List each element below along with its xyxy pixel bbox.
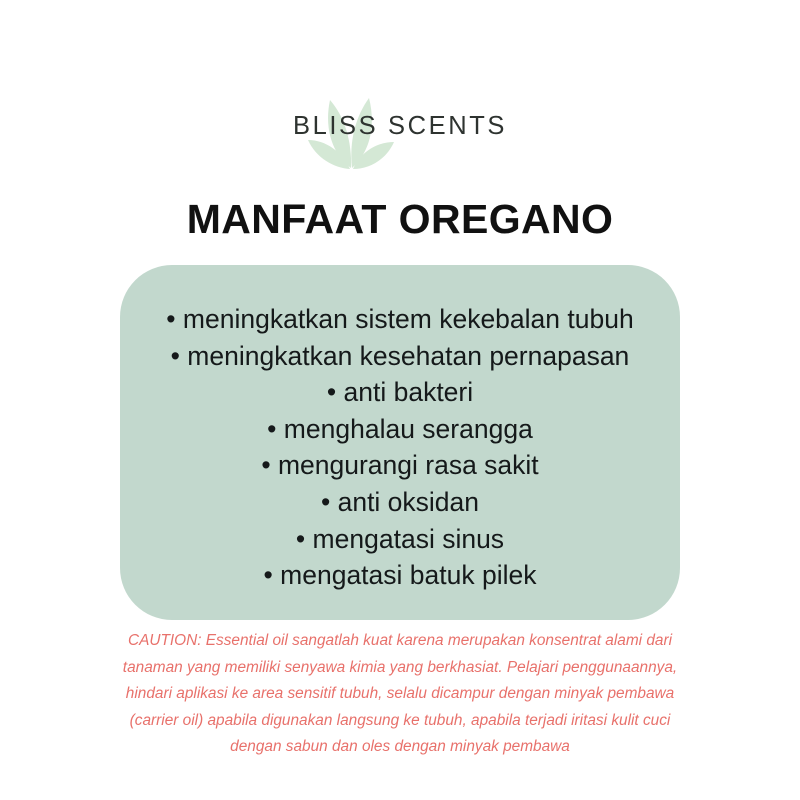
list-item: • anti oksidan	[120, 484, 680, 521]
list-item: • meningkatkan kesehatan pernapasan	[120, 338, 680, 375]
list-item: • mengatasi sinus	[120, 521, 680, 558]
caution-line: dengan sabun dan oles dengan minyak pemb…	[85, 734, 715, 761]
brand-name: BLISS SCENTS	[0, 76, 800, 176]
caution-line: tanaman yang memiliki senyawa kimia yang…	[85, 655, 715, 682]
caution-line: hindari aplikasi ke area sensitif tubuh,…	[85, 681, 715, 708]
list-item: • mengatasi batuk pilek	[120, 557, 680, 594]
page-title: MANFAAT OREGANO	[0, 196, 800, 243]
benefits-card: • meningkatkan sistem kekebalan tubuh • …	[120, 265, 680, 620]
brand-lockup: BLISS SCENTS	[0, 76, 800, 176]
benefits-list: • meningkatkan sistem kekebalan tubuh • …	[120, 301, 680, 594]
caution-line: CAUTION: Essential oil sangatlah kuat ka…	[85, 628, 715, 655]
list-item: • meningkatkan sistem kekebalan tubuh	[120, 301, 680, 338]
oregano-benefits-poster: BLISS SCENTS MANFAAT OREGANO • meningkat…	[0, 0, 800, 800]
list-item: • menghalau serangga	[120, 411, 680, 448]
caution-line: (carrier oil) apabila digunakan langsung…	[85, 708, 715, 735]
caution-note: CAUTION: Essential oil sangatlah kuat ka…	[85, 628, 715, 761]
list-item: • anti bakteri	[120, 374, 680, 411]
list-item: • mengurangi rasa sakit	[120, 447, 680, 484]
